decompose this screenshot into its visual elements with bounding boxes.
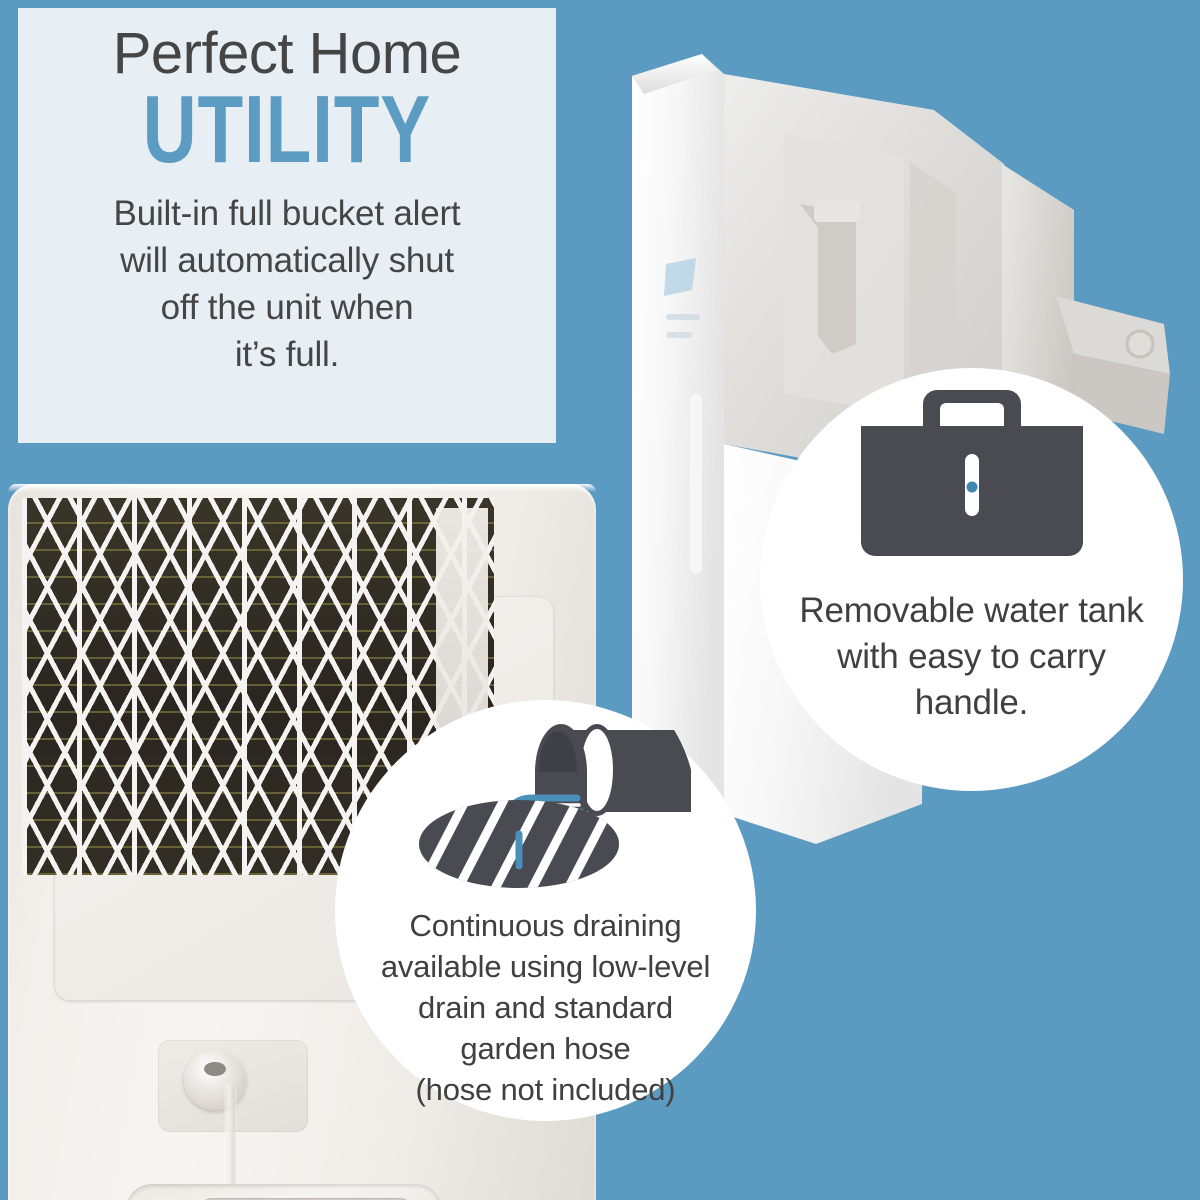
callout-continuous-drain: Continuous draining available using low-… [335,700,756,1121]
callout-line: with easy to carry [799,634,1143,680]
page-title-line2: UTILITY [143,82,431,178]
attached-hose [224,1084,237,1200]
callout-continuous-drain-text: Continuous draining available using low-… [381,905,710,1110]
callout-line: drain and standard [381,987,710,1028]
callout-water-tank-text: Removable water tank with easy to carry … [799,588,1143,726]
header-subtitle-line: it’s full. [114,331,461,378]
callout-line: Continuous draining [381,905,710,946]
callout-line: (hose not included) [381,1069,710,1110]
callout-line: available using low-level [381,946,710,987]
drain-outlet-hole [204,1062,226,1076]
callout-line: Removable water tank [799,588,1143,634]
callout-water-tank: Removable water tank with easy to carry … [760,368,1183,791]
callout-line: handle. [799,680,1143,726]
water-tank-handle-icon [847,382,1097,582]
header-subtitle-line: will automatically shut [114,237,461,284]
header-subtitle-line: Built-in full bucket alert [114,190,461,237]
callout-line: garden hose [381,1028,710,1069]
infographic-canvas: Perfect Home UTILITY Built-in full bucke… [0,0,1200,1200]
header-subtitle: Built-in full bucket alert will automati… [114,190,461,378]
header-subtitle-line: off the unit when [114,284,461,331]
header-panel: Perfect Home UTILITY Built-in full bucke… [18,8,556,443]
hose-drain-icon [401,716,691,901]
